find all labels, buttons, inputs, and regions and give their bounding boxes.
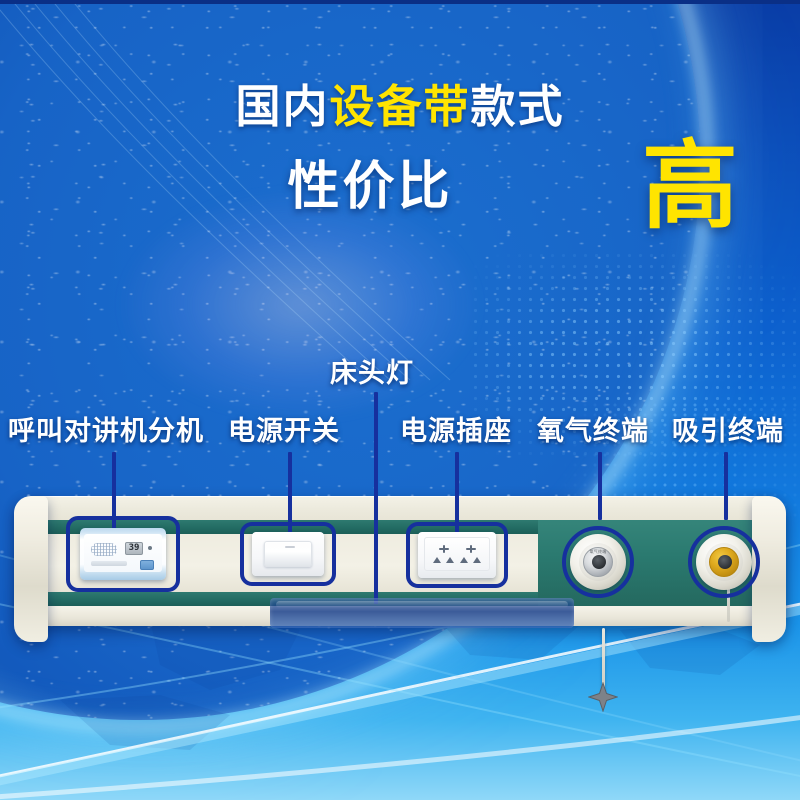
pull-cord-handle-icon[interactable] [588, 682, 618, 712]
panel-blue-rail [270, 598, 574, 628]
callout-label-suction: 吸引终端 [672, 418, 784, 445]
highlight-box-intercom [66, 516, 180, 592]
callout-label-bed-lamp: 床头灯 [330, 360, 414, 387]
leader-line-bed-lamp [374, 392, 378, 604]
headline-block: 国内设备带款式 性价比 高 [0, 84, 800, 241]
headline-part-2: 款式 [471, 81, 565, 132]
callout-label-oxygen: 氧气终端 [537, 418, 649, 445]
leader-line-oxygen [598, 452, 602, 520]
panel-end-cap-left [14, 496, 48, 642]
product-promo-image: 国内设备带款式 性价比 高 呼叫对讲机分机 电源开关 床头灯 电源插座 氧气终端… [0, 0, 800, 800]
callout-label-intercom: 呼叫对讲机分机 [8, 418, 204, 445]
highlight-box-power-socket [406, 522, 508, 588]
headline-highlight: 设备带 [329, 81, 470, 132]
headline-big-character: 高 [642, 139, 738, 235]
headline-line-2: 性价比 高 [0, 161, 800, 241]
highlight-box-power-switch [240, 522, 336, 586]
highlight-ring-suction [688, 526, 760, 598]
callout-label-power-switch: 电源开关 [228, 418, 340, 445]
rail-gloss [276, 601, 568, 608]
top-edge-bar [0, 0, 800, 4]
leader-line-suction [724, 452, 728, 520]
headline-line-1: 国内设备带款式 [0, 84, 800, 129]
headline-subtitle: 性价比 [287, 161, 452, 213]
headline-part-1: 国内 [235, 81, 329, 132]
callout-label-power-socket: 电源插座 [400, 418, 512, 445]
highlight-ring-oxygen [562, 526, 634, 598]
